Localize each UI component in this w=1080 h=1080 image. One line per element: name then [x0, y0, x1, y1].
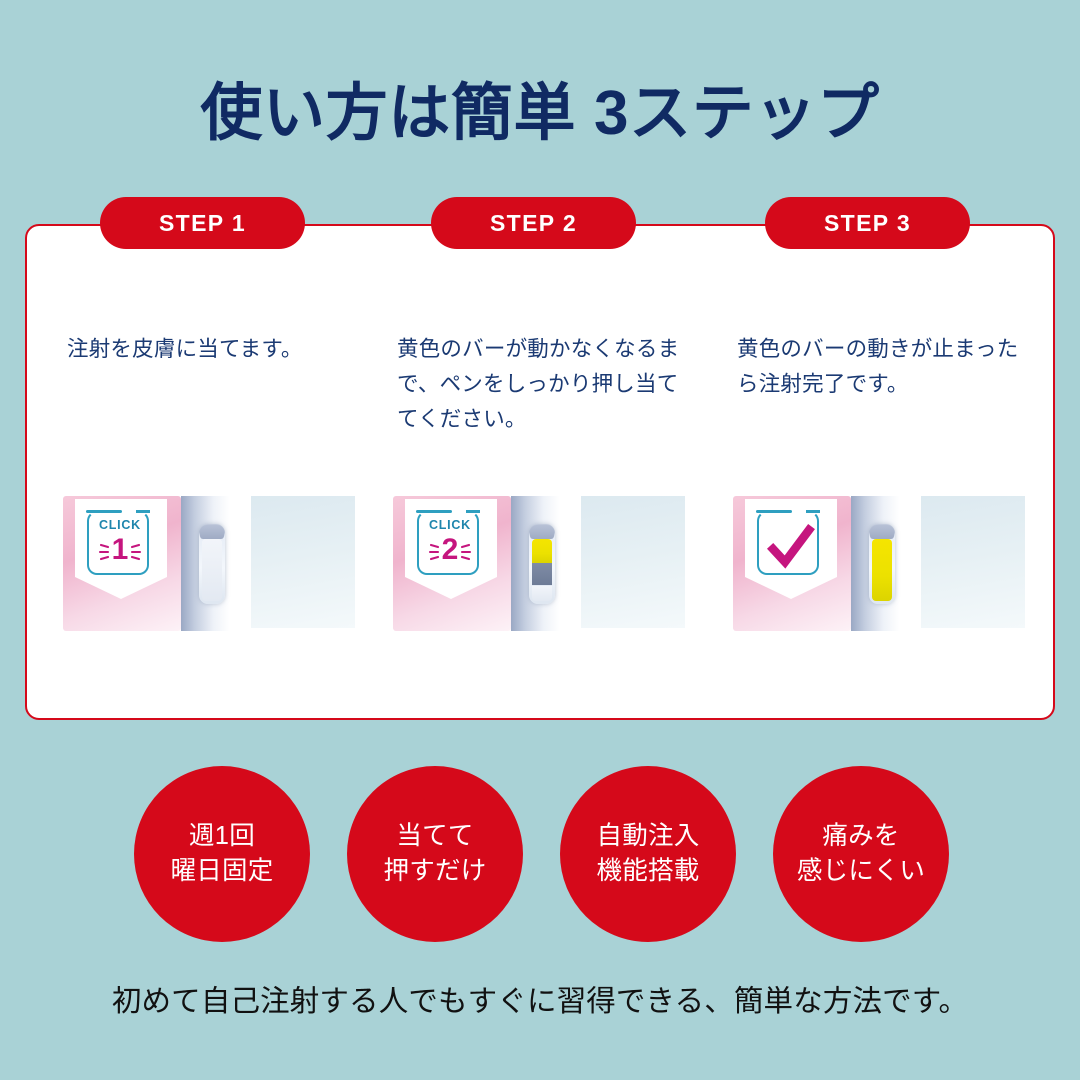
step-column-3: 黄色のバーの動きが止まったら注射完了です。: [733, 224, 1043, 720]
step-description-2: 黄色のバーが動かなくなるまで、ペンをしっかり押し当ててください。: [397, 332, 695, 436]
feature-line-2: 押すだけ: [383, 854, 486, 889]
feature-circle-2[interactable]: 当てて 押すだけ: [347, 766, 523, 942]
pen-window-inner: [872, 539, 892, 601]
step-columns: 注射を皮膚に当てます。 CLICK 1: [0, 224, 1080, 720]
pen-window-icon: [869, 524, 895, 604]
feature-circle-row: 週1回 曜日固定 当てて 押すだけ 自動注入 機能搭載 痛みを 感じにくい: [0, 766, 1080, 942]
feature-circle-1[interactable]: 週1回 曜日固定: [134, 766, 310, 942]
pen-window-empty: [532, 586, 552, 602]
step-illustration-1: CLICK 1: [63, 496, 355, 631]
illustration-blue-panel: [581, 496, 685, 628]
step-column-1: 注射を皮膚に当てます。 CLICK 1: [63, 224, 373, 720]
yellow-bar: [872, 539, 892, 601]
illustration-blue-panel: [921, 496, 1025, 628]
pen-window-icon: [529, 524, 555, 604]
feature-line-2: 曜日固定: [170, 854, 273, 889]
feature-line-1: 自動注入: [596, 819, 699, 854]
pen-window-cap: [200, 525, 224, 539]
spark-lines-icon: [419, 535, 481, 567]
yellow-bar: [532, 539, 552, 563]
pen-window-empty: [202, 539, 222, 601]
illustration-pen-panel: [181, 496, 243, 631]
click-label-1: CLICK: [89, 518, 151, 532]
pen-window-grey: [532, 563, 552, 586]
feature-line-2: 機能搭載: [596, 854, 699, 889]
step-description-3: 黄色のバーの動きが止まったら注射完了です。: [737, 332, 1035, 402]
banner-frame: CLICK 2: [417, 511, 479, 575]
step-illustration-3: [733, 496, 1025, 631]
step-column-2: 黄色のバーが動かなくなるまで、ペンをしっかり押し当ててください。: [393, 224, 703, 720]
step-illustration-2: CLICK 2: [393, 496, 685, 631]
page-title: 使い方は簡単 3ステップ: [0, 62, 1080, 152]
banner-frame: CLICK 1: [87, 511, 149, 575]
illustration-pen-panel: [511, 496, 573, 631]
feature-circle-4[interactable]: 痛みを 感じにくい: [773, 766, 949, 942]
footer-caption: 初めて自己注射する人でもすぐに習得できる、簡単な方法です。: [0, 978, 1080, 1020]
illustration-pen-panel: [851, 496, 913, 631]
pen-window-inner: [202, 539, 222, 601]
feature-line-1: 痛みを: [822, 819, 899, 854]
banner-frame: [757, 511, 819, 575]
feature-line-1: 週1回: [189, 819, 255, 854]
feature-line-2: 感じにくい: [797, 854, 925, 889]
pen-window-cap: [530, 525, 554, 539]
feature-line-1: 当てて: [396, 819, 473, 854]
pen-window-inner: [532, 539, 552, 601]
spark-lines-icon: [89, 535, 151, 567]
illustration-blue-panel: [251, 496, 355, 628]
step-description-1: 注射を皮膚に当てます。: [67, 332, 365, 367]
checkmark-icon: [759, 519, 821, 577]
pen-window-icon: [199, 524, 225, 604]
click-label-2: CLICK: [419, 518, 481, 532]
feature-circle-3[interactable]: 自動注入 機能搭載: [560, 766, 736, 942]
promo-page: 使い方は簡単 3ステップ STEP 1 STEP 2 STEP 3 注射を皮膚に…: [0, 0, 1080, 1080]
pen-window-cap: [870, 525, 894, 539]
